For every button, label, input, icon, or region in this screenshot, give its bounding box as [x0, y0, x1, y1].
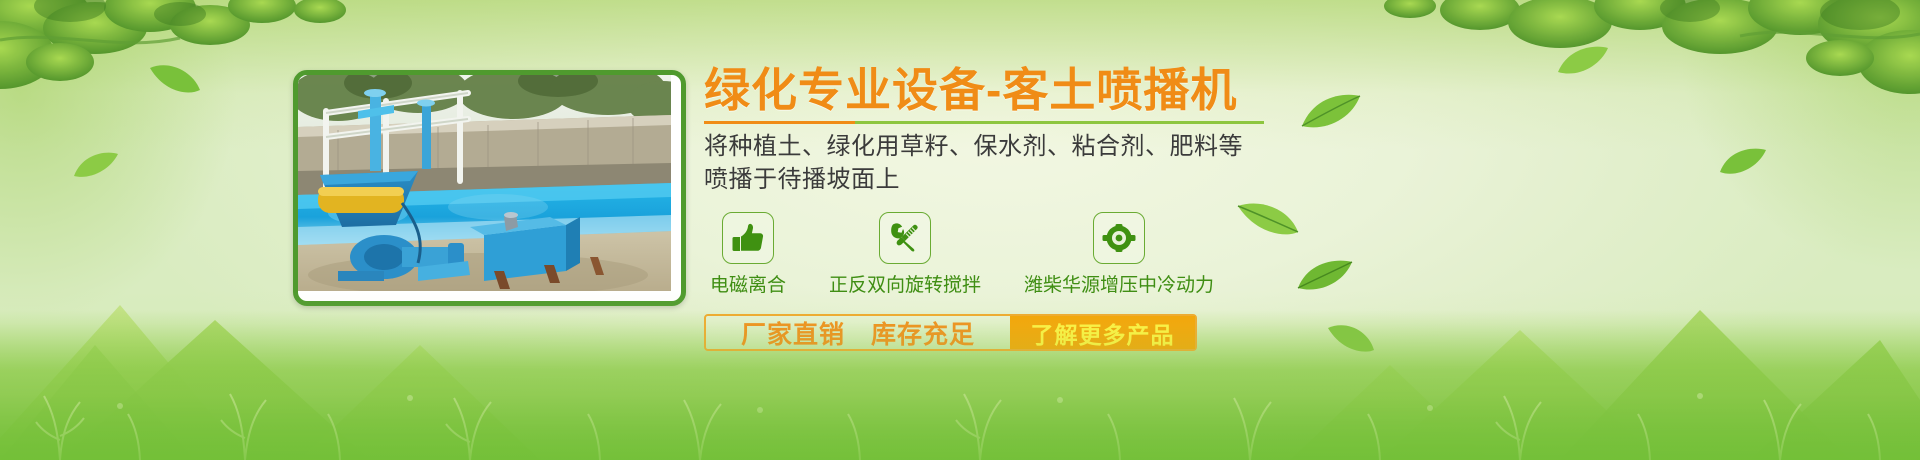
feature-item-bidirectional-mixing[interactable]: 正反双向旋转搅拌 [829, 212, 981, 297]
banner-title: 绿化专业设备-客土喷播机 [704, 64, 1764, 116]
leaf-icon [148, 60, 202, 96]
promo-banner: 绿化专业设备-客土喷播机 将种植土、绿化用草籽、保水剂、粘合剂、肥料等 喷播于待… [0, 0, 1920, 460]
banner-description-line2: 喷播于待播坡面上 [704, 163, 1764, 196]
product-photo-image [298, 75, 671, 291]
product-photo-frame[interactable] [293, 70, 686, 306]
leaf-icon [72, 150, 120, 182]
title-divider [704, 121, 1264, 124]
feature-icon-box [879, 212, 931, 264]
banner-description-line1: 将种植土、绿化用草籽、保水剂、粘合剂、肥料等 [704, 130, 1764, 163]
feature-icon-box [722, 212, 774, 264]
engine-icon [1102, 223, 1136, 253]
feature-list: 电磁离合 正反双向旋转搅拌 [704, 212, 1764, 297]
product-photo [298, 75, 681, 301]
background-bottom-wash [0, 290, 1920, 460]
feature-item-weichai-engine[interactable]: 潍柴华源增压中冷动力 [1024, 212, 1214, 297]
feature-icon-box [1093, 212, 1145, 264]
tools-icon [889, 222, 921, 254]
feature-item-electromagnetic-clutch[interactable]: 电磁离合 [710, 212, 786, 297]
thumbs-up-icon [732, 223, 764, 253]
